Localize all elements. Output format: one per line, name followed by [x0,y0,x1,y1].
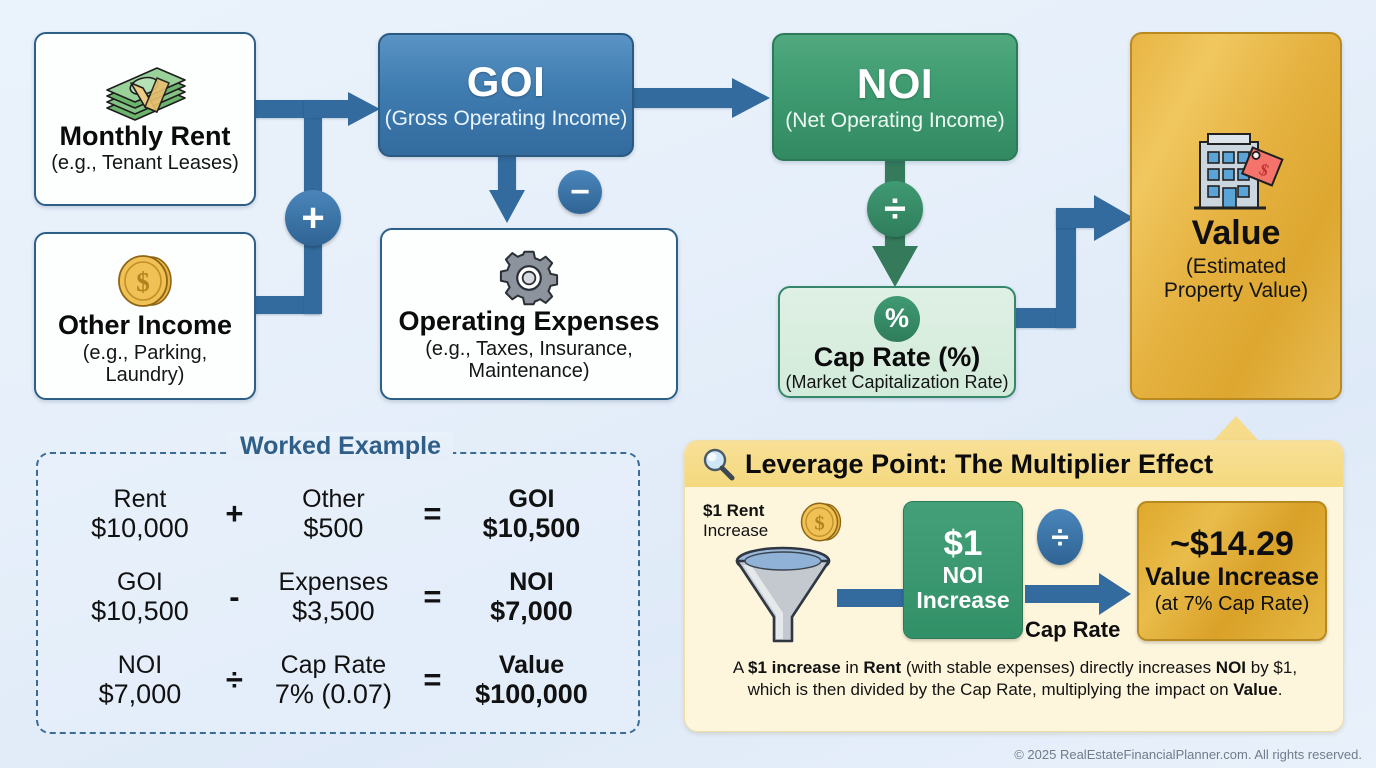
node-noi[interactable]: NOI (Net Operating Income) [772,33,1018,161]
percent-badge-label: % [885,303,909,334]
connector-goi-to-noi [634,88,742,108]
goi-sub: (Gross Operating Income) [385,107,628,131]
worked-mid-value: $500 [251,513,416,543]
building-price-tag-icon: $ [1182,128,1290,216]
worked-operator: + [218,496,251,532]
svg-text:$: $ [136,267,150,297]
node-monthly-rent[interactable]: Monthly Rent (e.g., Tenant Leases) [34,32,256,206]
leverage-value-box[interactable]: ~$14.29 Value Increase (at 7% Cap Rate) [1137,501,1327,641]
infographic-canvas: Monthly Rent (e.g., Tenant Leases) $ Oth… [0,0,1376,768]
worked-example-row: GOI $10,500 - Expenses $3,500 = NOI $7,0… [62,568,614,626]
operator-plus-badge: + [285,190,341,246]
node-cap-rate[interactable]: % Cap Rate (%) (Market Capitalization Ra… [778,286,1016,398]
node-goi[interactable]: GOI (Gross Operating Income) [378,33,634,157]
res: Value $100,000 [449,651,614,709]
operating-expenses-sub-1: (e.g., Taxes, Insurance, [425,338,633,360]
leverage-noi-line3: Increase [916,588,1009,614]
leverage-input-label-1: $1 Rent [703,501,764,520]
leverage-note: A $1 increase in Rent (with stable expen… [699,657,1331,701]
res: GOI $10,500 [449,485,614,543]
leverage-pointer-triangle [1214,416,1258,440]
worked-example-row: Rent $10,000 + Other $500 = GOI $10,500 [62,485,614,543]
worked-cell: Expenses $3,500 [251,568,416,626]
worked-example-rows: Rent $10,000 + Other $500 = GOI $10,500 … [62,472,614,722]
other-income-sub-1: (e.g., Parking, [83,342,208,364]
worked-cell: NOI $7,000 [62,651,218,709]
arrowhead-to-goi [348,88,382,130]
arrow-noi-to-value [1025,571,1133,617]
worked-result-value: $7,000 [449,596,614,626]
cap-rate-title: Cap Rate (%) [814,343,981,371]
footer-copyright: © 2025 RealEstateFinancialPlanner.com. A… [1014,747,1362,762]
worked-equals: = [416,662,449,698]
worked-result-value: $100,000 [449,679,614,709]
leverage-body: $1 Rent Increase $ [685,487,1343,719]
operator-divide-badge: ÷ [867,181,923,237]
operator-minus-badge: − [558,170,602,214]
noi-title: NOI [857,62,933,106]
worked-left-label: Rent [62,485,218,513]
worked-example-panel: Rent $10,000 + Other $500 = GOI $10,500 … [36,452,640,734]
worked-mid-value: $3,500 [251,596,416,626]
worked-left-value: $7,000 [62,679,218,709]
gold-coin-icon: $ [113,251,177,311]
gear-icon [498,249,560,307]
arrowhead-to-noi [732,74,772,122]
worked-left-label: NOI [62,651,218,679]
leverage-value-line3: (at 7% Cap Rate) [1155,593,1310,615]
worked-cell: GOI $10,500 [62,568,218,626]
operating-expenses-sub-2: Maintenance) [468,360,589,382]
funnel-icon [727,539,839,649]
cap-rate-sub: (Market Capitalization Rate) [785,372,1008,392]
leverage-header-text: Leverage Point: The Multiplier Effect [745,449,1213,480]
node-other-income[interactable]: $ Other Income (e.g., Parking, Laundry) [34,232,256,400]
leverage-note-line-2: which is then divided by the Cap Rate, m… [699,679,1331,701]
worked-example-row: NOI $7,000 ÷ Cap Rate 7% (0.07) = Value … [62,651,614,709]
worked-equals: = [416,579,449,615]
worked-mid-label: Expenses [251,568,416,596]
worked-result-label: NOI [449,568,614,596]
operating-expenses-title: Operating Expenses [398,307,659,335]
money-stack-icon [97,64,193,122]
leverage-panel: Leverage Point: The Multiplier Effect $1… [684,440,1344,732]
worked-result-value: $10,500 [449,513,614,543]
worked-left-value: $10,000 [62,513,218,543]
leverage-value-line1: ~$14.29 [1170,527,1294,563]
worked-mid-label: Other [251,485,416,513]
arrowhead-to-caprate [868,246,922,290]
leverage-noi-line1: $1 [944,526,983,563]
leverage-input-label: $1 Rent Increase [703,501,799,542]
node-operating-expenses[interactable]: Operating Expenses (e.g., Taxes, Insuran… [380,228,678,400]
worked-left-label: GOI [62,568,218,596]
value-title: Value [1192,216,1281,252]
worked-cell: Cap Rate 7% (0.07) [251,651,416,709]
worked-mid-label: Cap Rate [251,651,416,679]
other-income-sub-2: Laundry) [106,364,185,386]
res: NOI $7,000 [449,568,614,626]
leverage-divide-badge: ÷ [1037,509,1083,565]
noi-sub: (Net Operating Income) [785,109,1004,133]
leverage-noi-box[interactable]: $1 NOI Increase [903,501,1023,639]
worked-cell: Other $500 [251,485,416,543]
node-value[interactable]: $ Value (Estimated Property Value) [1130,32,1342,400]
worked-result-label: GOI [449,485,614,513]
value-sub-2: Property Value) [1164,279,1308,303]
worked-mid-value: 7% (0.07) [251,679,416,709]
worked-example-title: Worked Example [228,432,453,461]
svg-text:$: $ [814,513,824,535]
other-income-title: Other Income [58,311,232,339]
leverage-noi-line2: NOI [943,563,984,589]
worked-result-label: Value [449,651,614,679]
leverage-value-line2: Value Increase [1145,564,1319,592]
leverage-cap-rate-label: Cap Rate [1025,617,1120,643]
arrowhead-to-expenses [486,190,528,226]
magnifier-icon [701,447,735,481]
worked-operator: ÷ [218,662,251,698]
monthly-rent-sub: (e.g., Tenant Leases) [51,152,239,174]
leverage-header: Leverage Point: The Multiplier Effect [685,441,1343,487]
monthly-rent-title: Monthly Rent [60,122,231,150]
worked-left-value: $10,500 [62,596,218,626]
percent-icon: % [874,296,920,342]
goi-title: GOI [467,60,546,104]
leverage-note-line-1: A $1 increase in Rent (with stable expen… [699,657,1331,679]
worked-operator: - [218,579,251,615]
value-sub-1: (Estimated [1186,255,1286,279]
worked-equals: = [416,496,449,532]
worked-cell: Rent $10,000 [62,485,218,543]
